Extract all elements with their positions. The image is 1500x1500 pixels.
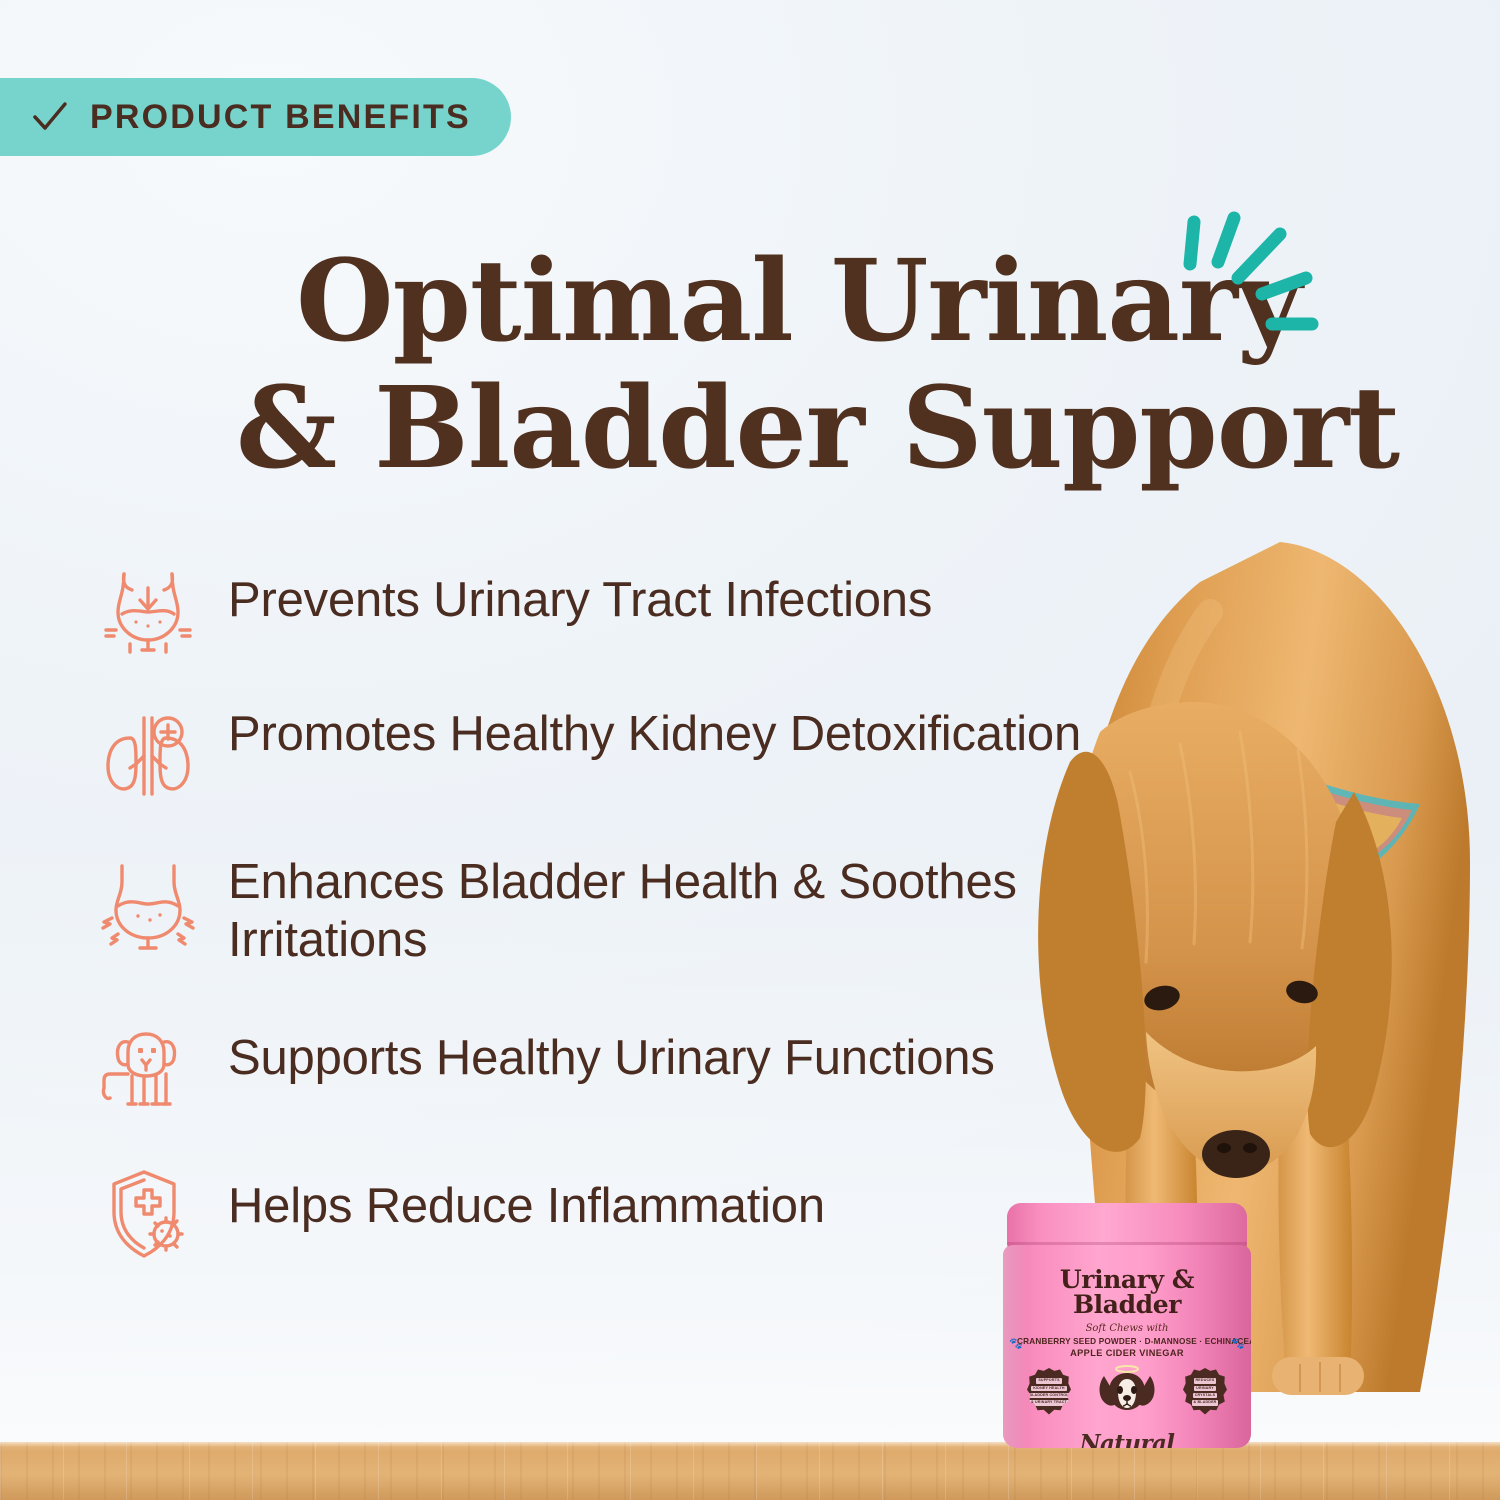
floor-edge [0, 1442, 1500, 1447]
seal-line: KIDNEY HEALTH [1031, 1386, 1066, 1391]
bladder-irritation-icon [96, 852, 200, 956]
seal-line: REDUCES [1194, 1378, 1217, 1383]
sparkle-burst-icon [1176, 206, 1326, 346]
benefit-item: Helps Reduce Inflammation [96, 1162, 1146, 1266]
standing-dog-icon [96, 1014, 200, 1118]
jar-seal-right: REDUCES URINARY CRYSTALS & BLADDER [1183, 1368, 1227, 1416]
wood-floor [0, 1442, 1500, 1500]
jar-seal-left: SUPPORTS KIDNEY HEALTH BLADDER CONTROL &… [1027, 1368, 1071, 1416]
jar-subtitle: Soft Chews with [1017, 1323, 1237, 1334]
seal-line: URINARY [1194, 1386, 1216, 1391]
wood-grain [0, 1442, 1500, 1500]
benefit-text: Helps Reduce Inflammation [228, 1162, 825, 1236]
jar-ingredients-line-2: APPLE CIDER VINEGAR [1017, 1348, 1237, 1358]
seal-line: & BLADDER [1192, 1400, 1219, 1405]
headline-line-2: & Bladder Support [236, 363, 1356, 494]
seal-line: & URINARY TRACT [1029, 1400, 1069, 1405]
benefit-text: Promotes Healthy Kidney Detoxification [228, 704, 1081, 764]
paw-icon: 🐾 [1009, 1337, 1023, 1350]
seal-line: SUPPORTS [1036, 1378, 1061, 1383]
benefit-text: Enhances Bladder Health & Soothes Irrita… [228, 852, 1108, 970]
shield-germ-icon [96, 1162, 200, 1266]
seal-left-lines: SUPPORTS KIDNEY HEALTH BLADDER CONTROL &… [1027, 1378, 1070, 1406]
seal-line: CRYSTALS [1193, 1393, 1218, 1398]
benefit-item: Prevents Urinary Tract Infections [96, 556, 1146, 660]
check-icon [30, 97, 70, 137]
infographic-canvas: PRODUCT BENEFITS Optimal Urinary & Bladd… [0, 0, 1500, 1500]
kidneys-plus-icon [96, 704, 200, 808]
benefits-list: Prevents Urinary Tract Infections [96, 556, 1146, 1310]
bladder-down-arrow-icon [96, 556, 200, 660]
paw-icon: 🐾 [1231, 1337, 1245, 1350]
benefit-text: Supports Healthy Urinary Functions [228, 1014, 995, 1088]
seal-line: BLADDER CONTROL [1027, 1393, 1070, 1398]
seal-right-lines: REDUCES URINARY CRYSTALS & BLADDER [1192, 1378, 1219, 1406]
jar-ingredients-line-1: CRANBERRY SEED POWDER · D-MANNOSE · ECHI… [1017, 1337, 1237, 1346]
benefit-item: Enhances Bladder Health & Soothes Irrita… [96, 852, 1146, 970]
dog-face-halo-icon [1092, 1362, 1162, 1414]
jar-middle-row: SUPPORTS KIDNEY HEALTH BLADDER CONTROL &… [1017, 1362, 1237, 1436]
benefit-item: Supports Healthy Urinary Functions [96, 1014, 1146, 1118]
benefit-item: Promotes Healthy Kidney Detoxification [96, 704, 1146, 808]
product-benefits-badge: PRODUCT BENEFITS [0, 78, 511, 156]
benefit-text: Prevents Urinary Tract Infections [228, 556, 932, 630]
badge-label: PRODUCT BENEFITS [90, 98, 471, 137]
